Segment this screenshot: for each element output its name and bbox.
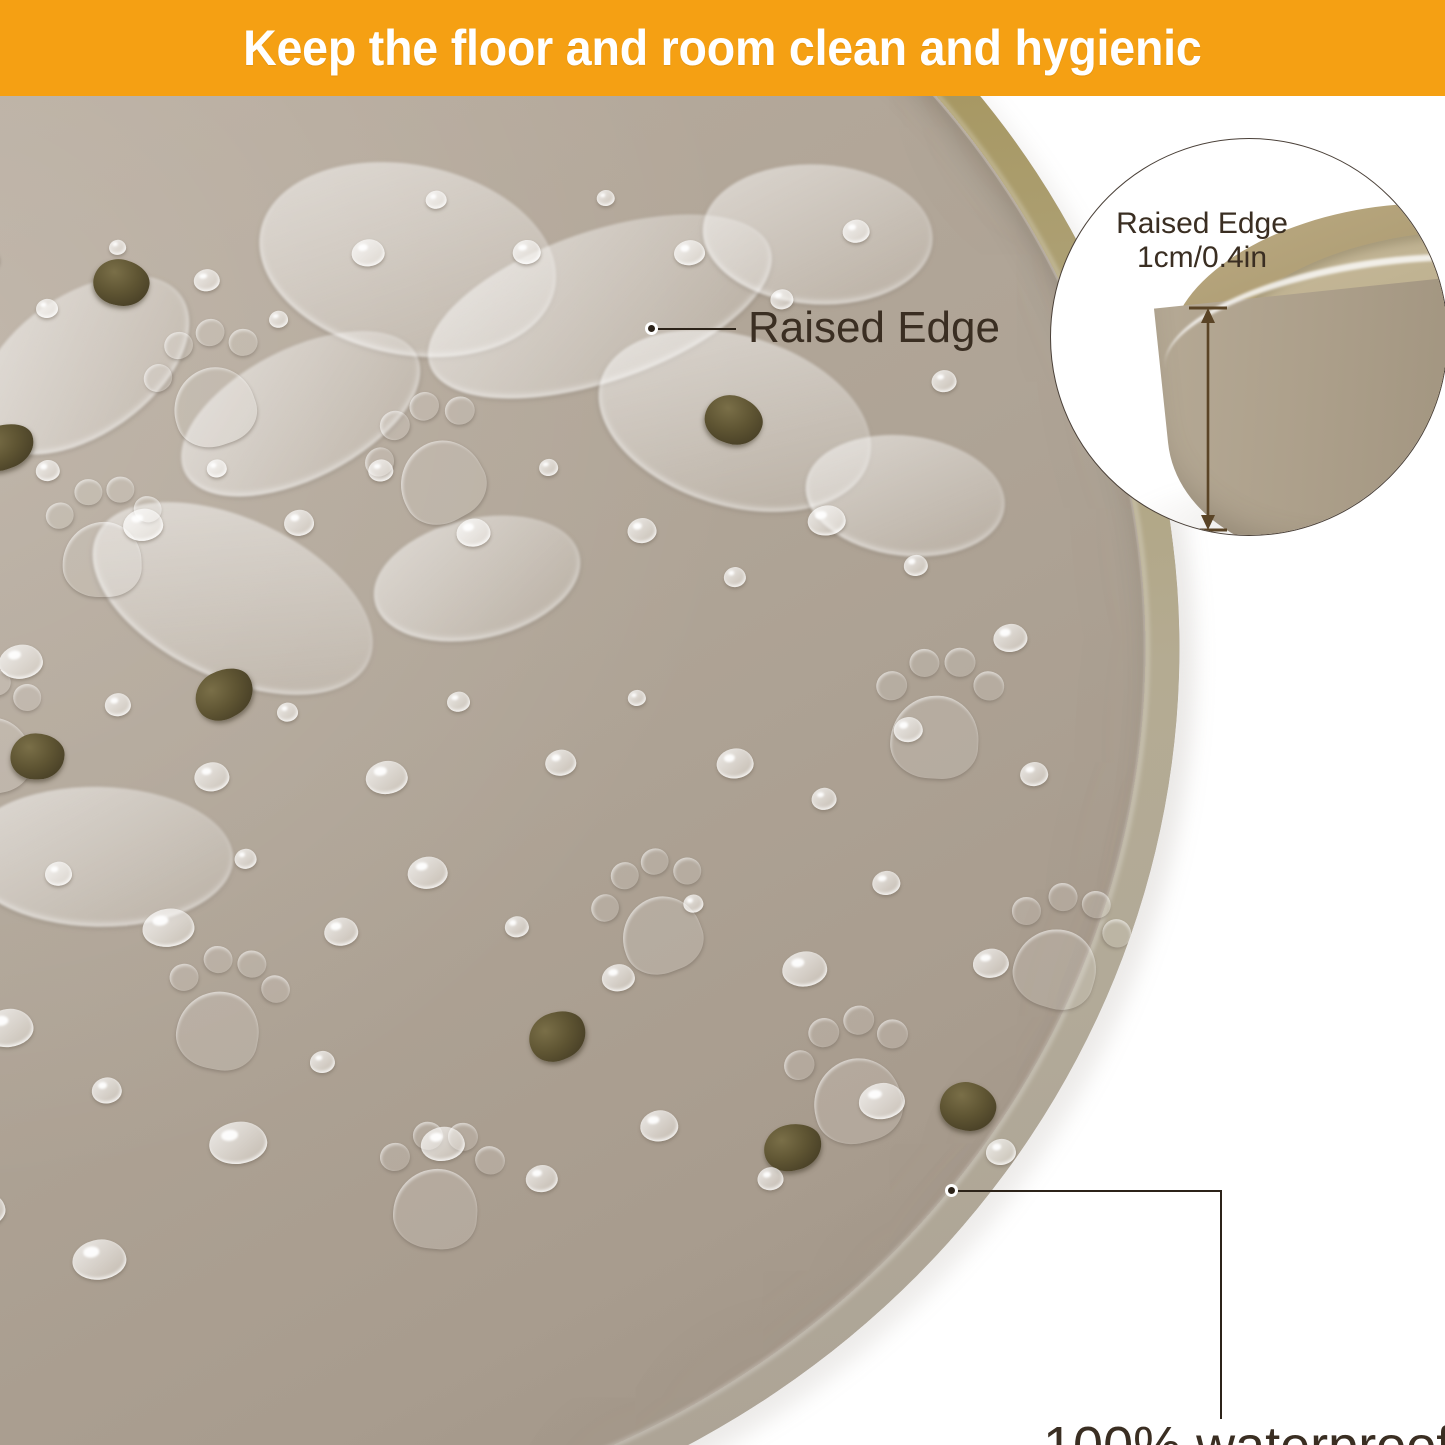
inset-label-title: Raised Edge — [1116, 207, 1288, 240]
paw-toe — [228, 329, 258, 358]
paw-toe — [1045, 880, 1081, 915]
inset-label: Raised Edge 1cm/0.4in — [1087, 207, 1317, 275]
headline-banner: Keep the floor and room clean and hygien… — [0, 0, 1445, 96]
paw-toe — [944, 647, 976, 678]
paw-toe — [607, 858, 643, 893]
paw-toe — [235, 948, 268, 980]
inset-label-measurement: 1cm/0.4in — [1087, 241, 1317, 275]
paw-toe — [908, 648, 940, 679]
paw-toe — [202, 944, 235, 976]
callout-label-raised-edge: Raised Edge — [748, 303, 1000, 353]
paw-pad — [171, 985, 266, 1077]
banner-headline: Keep the floor and room clean and hygien… — [243, 19, 1202, 77]
paw-toe — [872, 668, 909, 704]
paw-print-emboss — [151, 932, 294, 1083]
paw-toe — [139, 358, 178, 397]
paw-print-emboss — [868, 640, 1003, 785]
paw-toe — [778, 1044, 820, 1086]
paw-toe — [637, 844, 673, 879]
dimension-arrow-icon — [1179, 303, 1237, 535]
paw-pad — [390, 1165, 481, 1252]
paw-toe — [805, 1014, 843, 1050]
callout-dot-waterproof — [945, 1184, 958, 1197]
paw-toe — [877, 1019, 909, 1049]
paw-toe — [839, 1002, 877, 1038]
leader-line-waterproof-horizontal — [958, 1190, 1222, 1192]
paw-toe — [161, 328, 197, 363]
leader-line-raised-edge — [658, 328, 736, 330]
paw-toe — [192, 315, 228, 350]
paw-toe — [1078, 887, 1114, 922]
paw-toe — [43, 498, 78, 532]
paw-toe — [378, 1141, 413, 1175]
raised-edge-detail-inset: Raised Edge 1cm/0.4in — [1050, 138, 1445, 536]
callout-dot-raised-edge — [645, 322, 658, 335]
paw-toe — [168, 962, 200, 993]
inset-product-closeup — [1051, 139, 1445, 535]
paw-toe — [1012, 897, 1042, 925]
paw-toe — [74, 479, 102, 506]
paw-toe — [106, 476, 134, 503]
paw-toe — [375, 406, 415, 445]
leader-line-waterproof-vertical — [1220, 1190, 1222, 1419]
callout-label-waterproof: 100% waterproof — [1043, 1415, 1445, 1445]
